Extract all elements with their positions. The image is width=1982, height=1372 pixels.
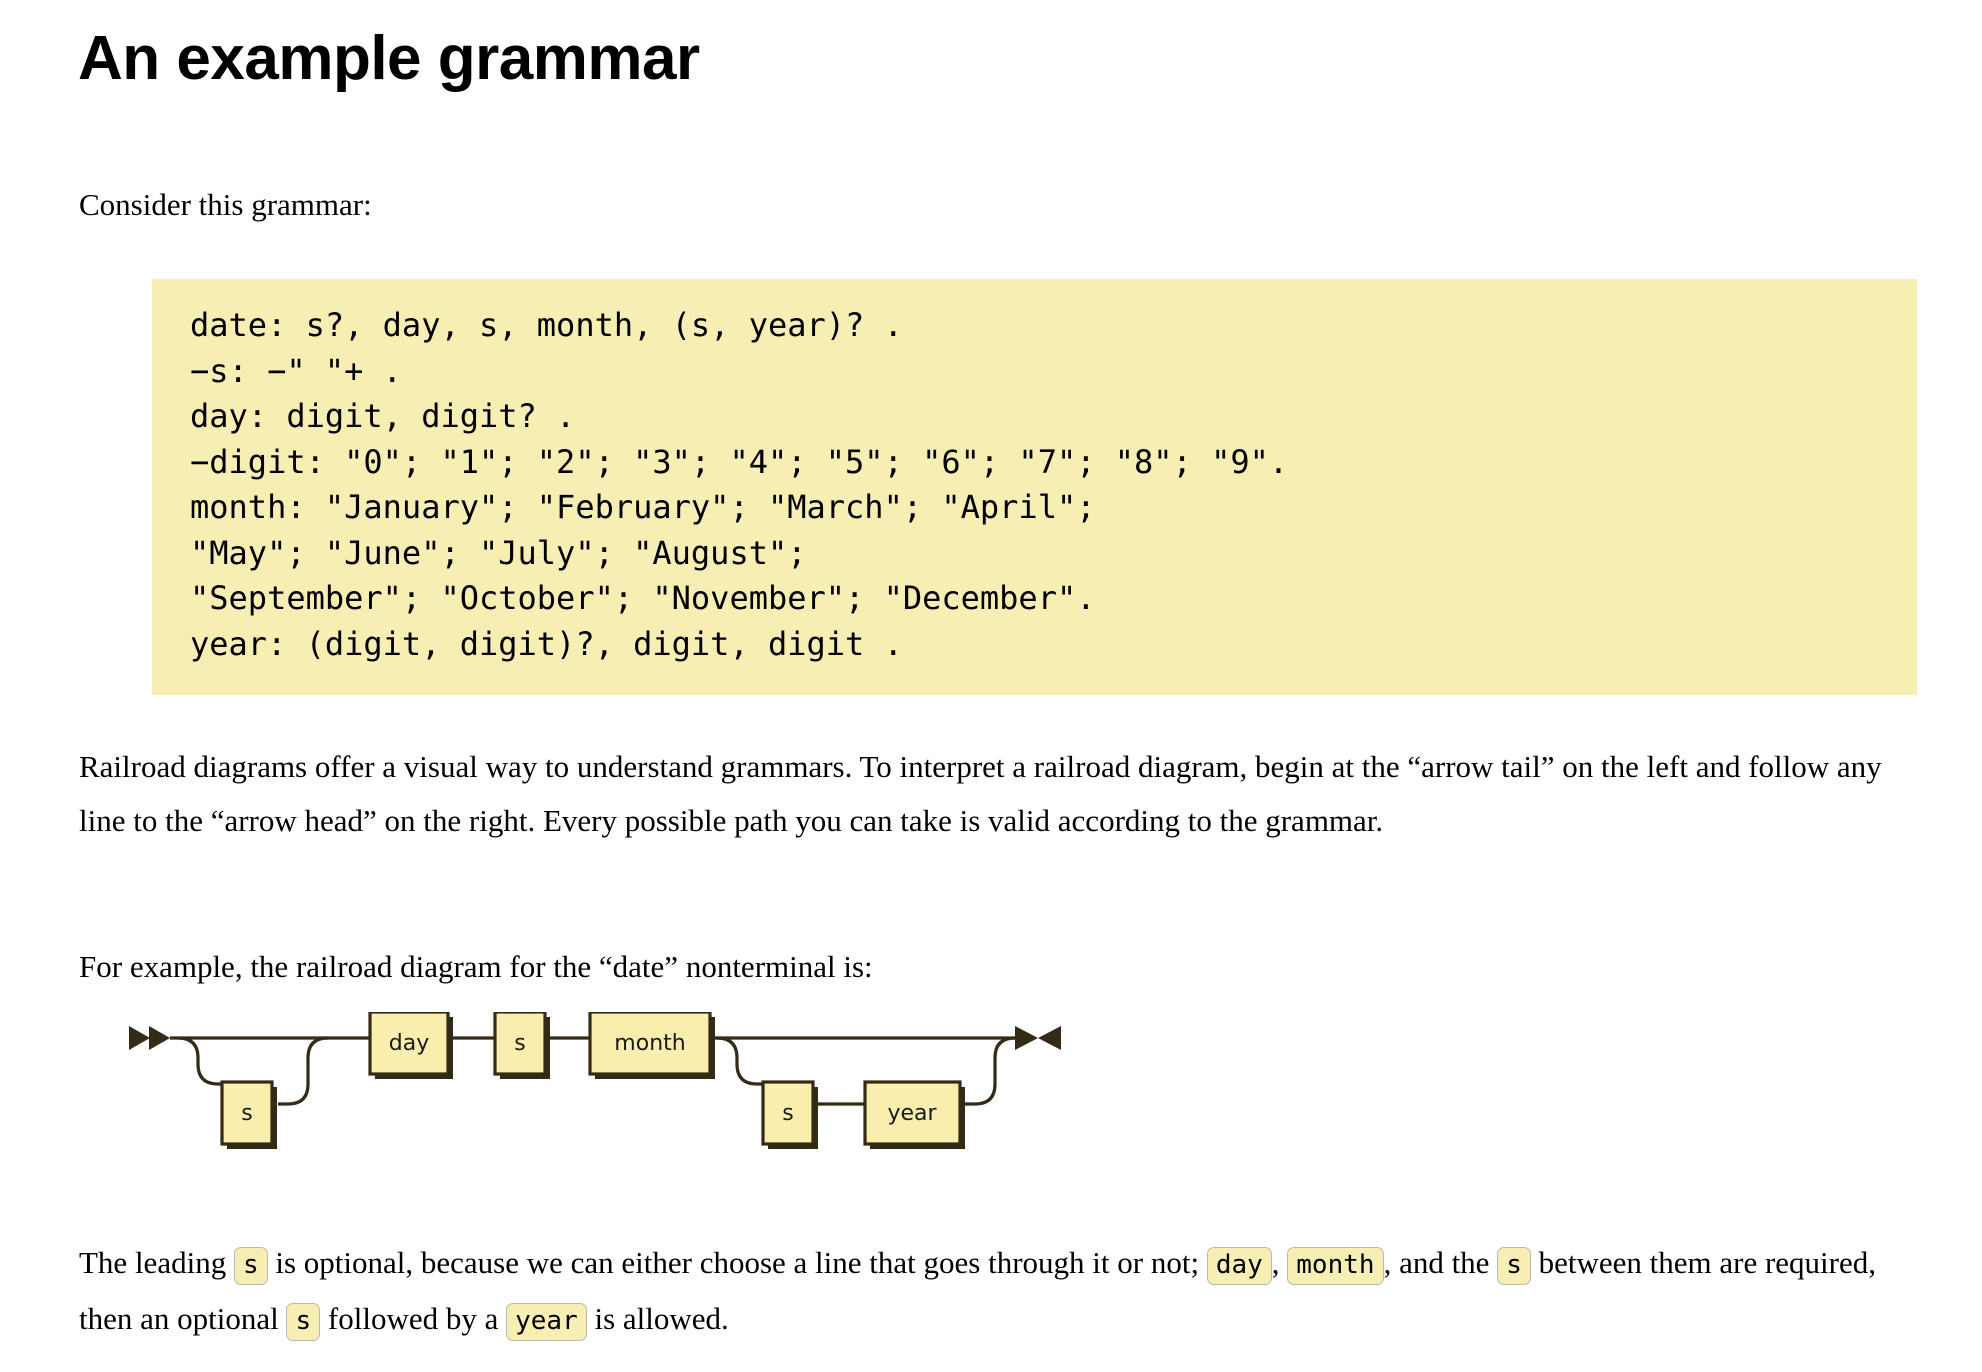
closing-seg-2: is optional, because we can either choos… xyxy=(268,1245,1207,1280)
rr-node-month: month xyxy=(590,1012,715,1079)
grammar-code-block: date: s?, day, s, month, (s, year)? . −s… xyxy=(152,279,1917,695)
rr-label-s-right: s xyxy=(782,1101,793,1126)
inline-code-s-1: s xyxy=(234,1247,268,1285)
rr-node-s-mid: s xyxy=(495,1012,550,1079)
rr-label-month: month xyxy=(614,1031,685,1056)
closing-seg-1: The leading xyxy=(79,1245,234,1280)
rr-node-year: year xyxy=(865,1082,965,1149)
railroad-diagram: s day s xyxy=(120,1012,1080,1152)
rr-label-day: day xyxy=(389,1031,429,1056)
paragraph-closing: The leading s is optional, because we ca… xyxy=(79,1236,1909,1348)
closing-seg-4: , and the xyxy=(1384,1245,1498,1280)
rr-label-year: year xyxy=(887,1101,937,1126)
inline-code-month: month xyxy=(1287,1247,1383,1285)
inline-code-day: day xyxy=(1207,1247,1272,1285)
paragraph-railroad-intro: Railroad diagrams offer a visual way to … xyxy=(79,740,1911,848)
page-title: An example grammar xyxy=(78,22,700,96)
document-page: An example grammar Consider this grammar… xyxy=(0,0,1982,1372)
rr-label-s-mid: s xyxy=(514,1031,525,1056)
rr-node-s-left: s xyxy=(222,1082,277,1149)
inline-code-year: year xyxy=(506,1303,587,1341)
rr-node-s-right: s xyxy=(763,1082,818,1149)
rr-label-s-left: s xyxy=(241,1101,252,1126)
grammar-code-text: date: s?, day, s, month, (s, year)? . −s… xyxy=(190,303,1917,667)
rr-node-day: day xyxy=(370,1012,453,1079)
paragraph-for-example: For example, the railroad diagram for th… xyxy=(79,940,1579,994)
arrow-tail-icon xyxy=(129,1026,170,1050)
arrow-head-icon xyxy=(1015,1026,1061,1050)
closing-seg-7: is allowed. xyxy=(587,1301,729,1336)
closing-seg-3: , xyxy=(1272,1245,1288,1280)
closing-seg-6: followed by a xyxy=(320,1301,506,1336)
inline-code-s-3: s xyxy=(286,1303,320,1341)
inline-code-s-2: s xyxy=(1497,1247,1531,1285)
paragraph-consider: Consider this grammar: xyxy=(79,178,1479,232)
